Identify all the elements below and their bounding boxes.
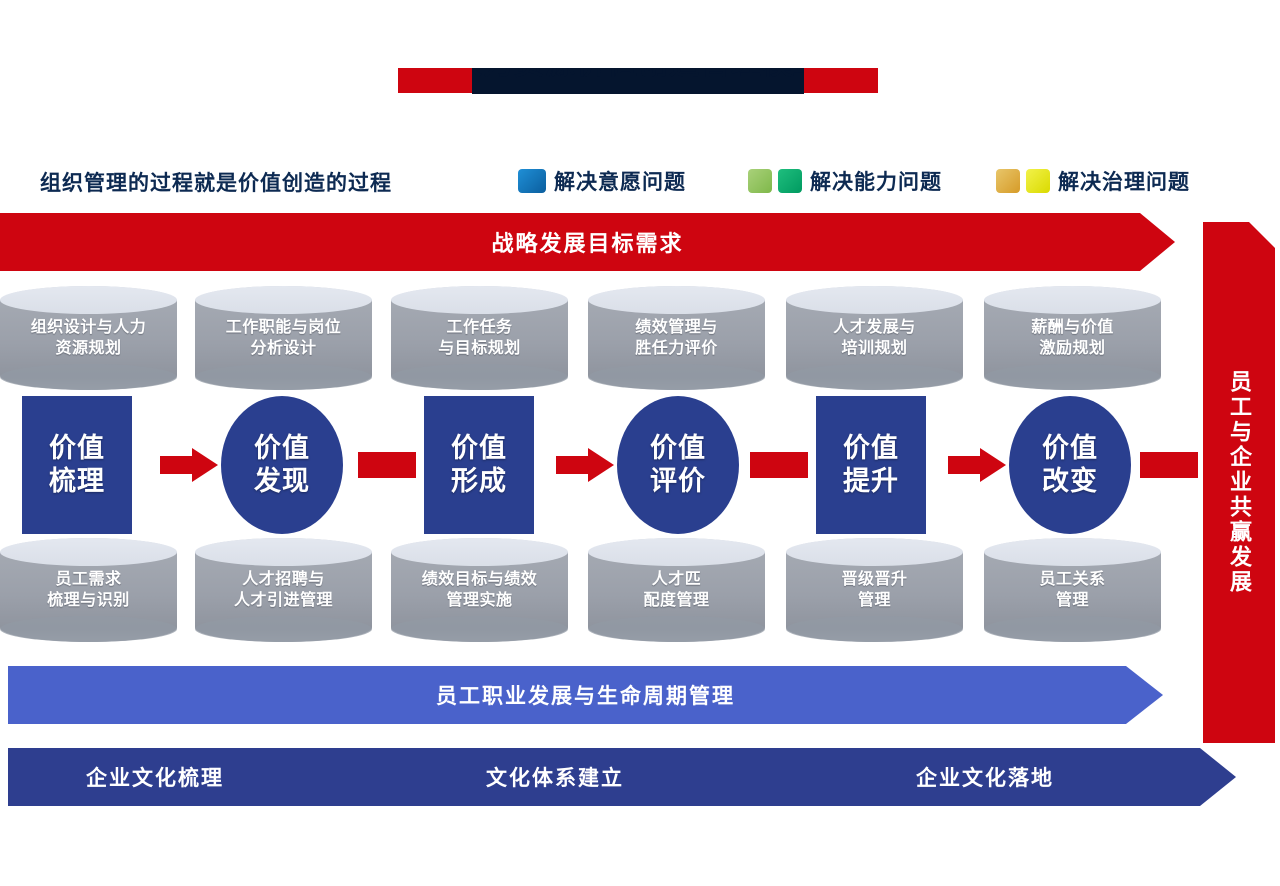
top-cylinder-6: 薪酬与价值 激励规划 xyxy=(984,286,1161,390)
line1: 工作职能与岗位 xyxy=(226,319,342,336)
top-cylinder-label-4: 绩效管理与 胜任力评价 xyxy=(635,317,718,359)
line2: 管理 xyxy=(1056,592,1089,609)
culture-bar: 企业文化梳理 文化体系建立 企业文化落地 xyxy=(8,748,1236,806)
bottom-cylinder-label-2: 人才招聘与 人才引进管理 xyxy=(234,569,333,611)
line2: 分析设计 xyxy=(250,340,316,357)
top-cylinder-3: 工作任务 与目标规划 xyxy=(391,286,568,390)
bottom-cylinder-label-3: 绩效目标与绩效 管理实施 xyxy=(422,569,538,611)
title-banner: 人力资源价值创造管理模型 xyxy=(398,68,878,94)
bottom-cylinder-4: 人才匹 配度管理 xyxy=(588,538,765,642)
title-accent-left xyxy=(398,68,476,93)
legend-swatch-green xyxy=(778,169,802,193)
line2: 管理 xyxy=(858,592,891,609)
line1: 人才发展与 xyxy=(833,319,916,336)
value-node-3: 价值 形成 xyxy=(424,396,534,534)
title-accent-right xyxy=(800,68,878,93)
bottom-cylinder-label-6: 员工关系 管理 xyxy=(1039,569,1105,611)
arrow-head xyxy=(980,448,1006,482)
arrow-icon-3 xyxy=(948,448,1006,482)
title-plate: 人力资源价值创造管理模型 xyxy=(472,68,804,94)
connector-bar-2 xyxy=(750,452,808,478)
legend-swatch-blue xyxy=(518,169,546,193)
top-cylinder-label-5: 人才发展与 培训规划 xyxy=(833,317,916,359)
line2: 梳理与识别 xyxy=(47,592,130,609)
line2: 胜任力评价 xyxy=(635,340,718,357)
line2: 改变 xyxy=(1042,466,1098,496)
line1: 员工需求 xyxy=(55,571,121,588)
line2: 激励规划 xyxy=(1039,340,1105,357)
arrow-head xyxy=(588,448,614,482)
line1: 组织设计与人力 xyxy=(31,319,147,336)
line2: 梳理 xyxy=(49,466,105,496)
legend-swatch-lightgreen xyxy=(748,169,772,193)
legend-item-capability: 解决能力问题 xyxy=(748,166,942,196)
top-cylinder-label-3: 工作任务 与目标规划 xyxy=(438,317,521,359)
top-cylinder-1: 组织设计与人力 资源规划 xyxy=(0,286,177,390)
slide-canvas: 人力资源价值创造管理模型 组织管理的过程就是价值创造的过程 解决意愿问题 解决能… xyxy=(0,0,1280,886)
value-node-label-3: 价值 形成 xyxy=(451,432,507,498)
line1: 薪酬与价值 xyxy=(1031,319,1114,336)
subtitle: 组织管理的过程就是价值创造的过程 xyxy=(40,167,392,197)
line1: 价值 xyxy=(451,433,507,463)
connector-bar-3 xyxy=(1140,452,1198,478)
top-cylinder-label-1: 组织设计与人力 资源规划 xyxy=(31,317,147,359)
page-title: 人力资源价值创造管理模型 xyxy=(472,68,804,84)
bottom-cylinder-label-4: 人才匹 配度管理 xyxy=(643,569,709,611)
value-node-label-6: 价值 改变 xyxy=(1042,432,1098,498)
line2: 培训规划 xyxy=(841,340,907,357)
bottom-cylinder-2: 人才招聘与 人才引进管理 xyxy=(195,538,372,642)
lifecycle-bar-label: 员工职业发展与生命周期管理 xyxy=(436,680,735,710)
line1: 价值 xyxy=(1042,433,1098,463)
line2: 与目标规划 xyxy=(438,340,521,357)
legend-swatch-yellow xyxy=(1026,169,1050,193)
line2: 形成 xyxy=(451,466,507,496)
line1: 绩效目标与绩效 xyxy=(422,571,538,588)
line2: 资源规划 xyxy=(55,340,121,357)
value-node-label-2: 价值 发现 xyxy=(254,432,310,498)
line1: 价值 xyxy=(49,433,105,463)
line1: 晋级晋升 xyxy=(841,571,907,588)
bottom-cylinder-3: 绩效目标与绩效 管理实施 xyxy=(391,538,568,642)
bottom-cylinder-label-1: 员工需求 梳理与识别 xyxy=(47,569,130,611)
arrow-icon-2 xyxy=(556,448,614,482)
legend-label-governance: 解决治理问题 xyxy=(1058,166,1190,196)
value-node-5: 价值 提升 xyxy=(816,396,926,534)
top-cylinder-2: 工作职能与岗位 分析设计 xyxy=(195,286,372,390)
line1: 价值 xyxy=(650,433,706,463)
bottom-cylinder-5: 晋级晋升 管理 xyxy=(786,538,963,642)
line1: 绩效管理与 xyxy=(635,319,718,336)
culture-item-2: 文化体系建立 xyxy=(486,748,624,806)
legend-label-capability: 解决能力问题 xyxy=(810,166,942,196)
value-chain-row: 价值 梳理 价值 发现 价值 形成 价值 xyxy=(0,396,1280,536)
line1: 价值 xyxy=(254,433,310,463)
bottom-cylinder-label-5: 晋级晋升 管理 xyxy=(841,569,907,611)
line2: 人才引进管理 xyxy=(234,592,333,609)
arrow-head xyxy=(192,448,218,482)
value-node-label-1: 价值 梳理 xyxy=(49,432,105,498)
top-cylinder-5: 人才发展与 培训规划 xyxy=(786,286,963,390)
line1: 价值 xyxy=(843,433,899,463)
strategy-banner: 战略发展目标需求 xyxy=(0,213,1175,271)
connector-bar-1 xyxy=(358,452,416,478)
culture-item-1: 企业文化梳理 xyxy=(86,748,224,806)
value-node-4: 价值 评价 xyxy=(617,396,739,534)
culture-item-3: 企业文化落地 xyxy=(916,748,1054,806)
top-cylinder-4: 绩效管理与 胜任力评价 xyxy=(588,286,765,390)
line2: 发现 xyxy=(254,466,310,496)
legend-swatch-gold xyxy=(996,169,1020,193)
top-cylinder-label-2: 工作职能与岗位 分析设计 xyxy=(226,317,342,359)
top-cylinder-label-6: 薪酬与价值 激励规划 xyxy=(1031,317,1114,359)
legend-item-governance: 解决治理问题 xyxy=(996,166,1190,196)
bottom-cylinder-1: 员工需求 梳理与识别 xyxy=(0,538,177,642)
line1: 人才招聘与 xyxy=(242,571,325,588)
legend-label-willingness: 解决意愿问题 xyxy=(554,166,686,196)
value-node-label-4: 价值 评价 xyxy=(650,432,706,498)
value-node-1: 价值 梳理 xyxy=(22,396,132,534)
bottom-cylinder-6: 员工关系 管理 xyxy=(984,538,1161,642)
legend-item-willingness: 解决意愿问题 xyxy=(518,166,686,196)
strategy-banner-label: 战略发展目标需求 xyxy=(491,226,683,258)
lifecycle-bar: 员工职业发展与生命周期管理 xyxy=(8,666,1163,724)
line2: 配度管理 xyxy=(643,592,709,609)
line1: 人才匹 xyxy=(652,571,702,588)
line1: 员工关系 xyxy=(1039,571,1105,588)
value-node-label-5: 价值 提升 xyxy=(843,432,899,498)
value-node-6: 价值 改变 xyxy=(1009,396,1131,534)
line1: 工作任务 xyxy=(446,319,512,336)
line2: 管理实施 xyxy=(446,592,512,609)
arrow-icon-1 xyxy=(160,448,218,482)
line2: 评价 xyxy=(650,466,706,496)
value-node-2: 价值 发现 xyxy=(221,396,343,534)
line2: 提升 xyxy=(843,466,899,496)
